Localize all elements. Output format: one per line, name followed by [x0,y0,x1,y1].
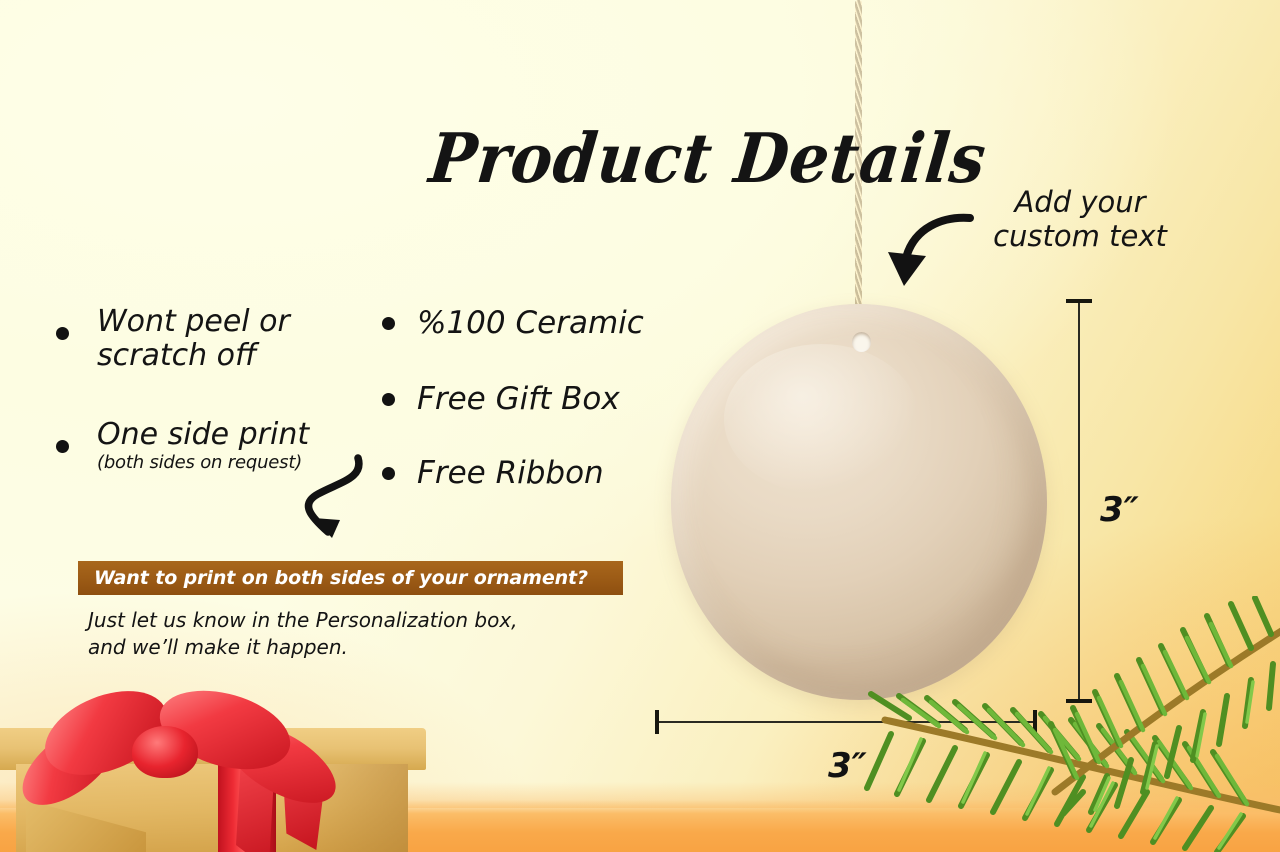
dimension-label-height: 3″ [1100,490,1139,530]
ornament-hanging-hole [852,332,871,352]
pine-branch-image [1035,596,1280,816]
feature-label: Free Gift Box [417,382,620,417]
list-item: %100 Ceramic [382,306,644,341]
list-item: Free Ribbon [382,456,604,491]
custom-text-annotation: Add your custom text [975,186,1185,254]
banner-headline: Want to print on both sides of your orna… [94,567,588,589]
feature-label: Wont peel or scratch off [97,305,356,373]
feature-label: %100 Ceramic [417,306,644,341]
bullet-dot-icon [382,393,395,406]
list-item: Free Gift Box [382,382,620,417]
curved-arrow-down-icon [884,212,974,294]
ornament-highlight [724,344,920,494]
banner-note-line-2: and we’ll make it happen. [88,635,348,659]
bullet-dot-icon [382,317,395,330]
dimension-cap-left [655,710,659,734]
custom-text-line-2: custom text [993,219,1167,253]
bullet-dot-icon [56,327,69,340]
list-item: Wont peel or scratch off [56,305,356,373]
custom-text-line-1: Add your [1014,185,1145,219]
s-curve-arrow-icon [284,452,394,562]
feature-label-note: (both sides on request) [97,453,309,474]
banner-note-line-1: Just let us know in the Personalization … [88,608,518,632]
bullet-dot-icon [56,440,69,453]
product-details-infographic: Product Details Wont peel or scratch off… [0,0,1280,852]
feature-label: One side print (both sides on request) [97,418,309,474]
feature-label: Free Ribbon [417,456,604,491]
gift-box-image [0,680,452,852]
ribbon-bow-knot [132,726,198,778]
banner-note: Just let us know in the Personalization … [88,607,628,661]
feature-label-main: One side print [97,417,309,452]
page-title: Product Details [426,118,874,198]
dimension-cap-top [1066,299,1092,303]
both-sides-banner: Want to print on both sides of your orna… [78,561,623,595]
